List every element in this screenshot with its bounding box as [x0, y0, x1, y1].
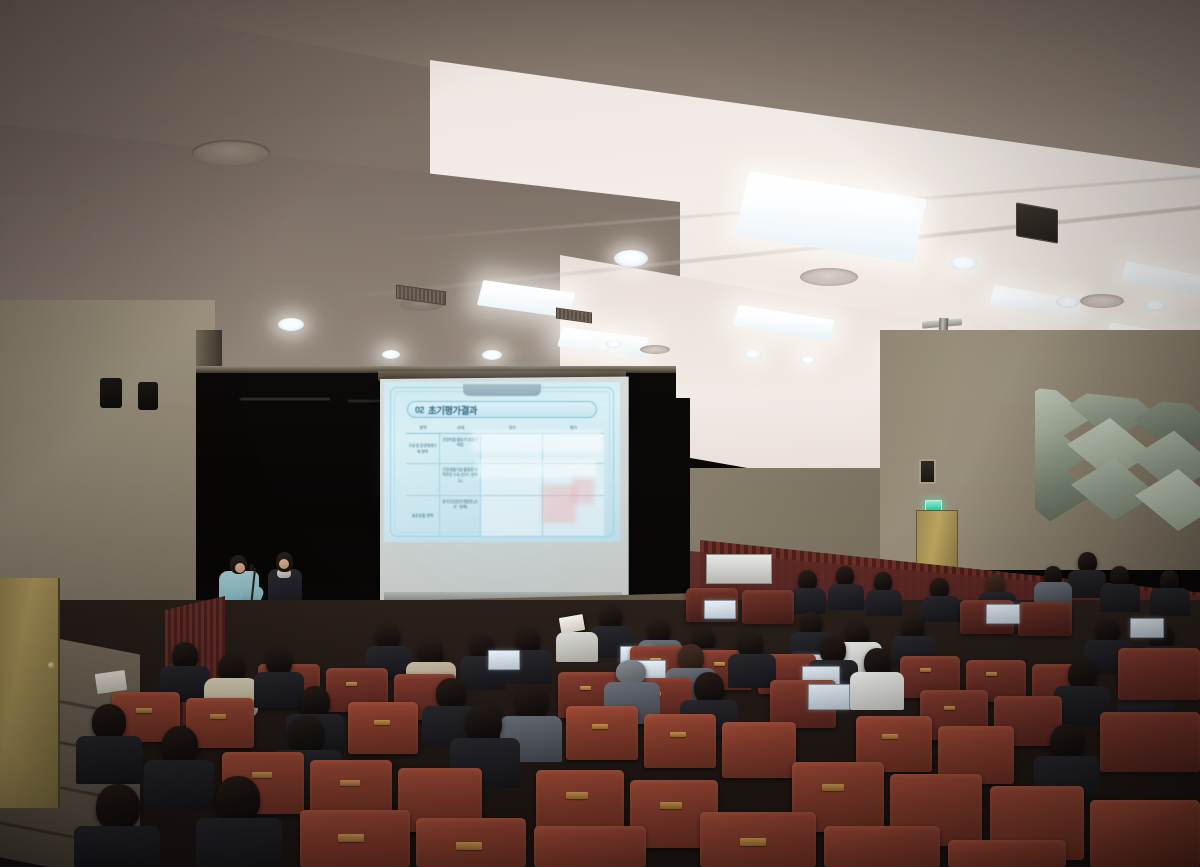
seat-number-plate: [592, 724, 608, 729]
audience-body: [790, 588, 826, 614]
ceiling-speaker: [1016, 202, 1058, 243]
slide-cell-area: 구성 및 운영체계구축 영역: [406, 434, 440, 463]
stage-backdrop-right: [630, 398, 690, 603]
seat-number-plate: [456, 842, 482, 850]
seat-number-plate: [566, 792, 588, 799]
audience-body: [76, 736, 142, 784]
slide-tab-decoration: [463, 384, 541, 396]
slide-blurred-content: [476, 460, 596, 478]
audience-body: [728, 654, 776, 688]
ceiling-air-vent: [1080, 294, 1124, 308]
audience-head: [874, 572, 892, 592]
slide-title: 초기평가결과: [428, 403, 477, 417]
ceiling-downlight: [482, 350, 502, 360]
wall-speaker: [138, 382, 158, 410]
seat-number-plate: [660, 802, 682, 809]
side-table: [706, 554, 772, 584]
presenter-face: [235, 563, 245, 573]
ceiling-downlight: [1056, 296, 1080, 308]
slide-cell-task: 한국건강증진개발원 (조사 · 설계): [440, 496, 482, 536]
seat-number-plate: [252, 772, 272, 778]
seat-number-plate: [822, 784, 844, 791]
ceiling-downlight: [744, 350, 762, 359]
audience-head: [516, 686, 548, 720]
audience-body: [196, 818, 282, 867]
slide-number: 02: [415, 405, 424, 415]
slide-cell-area: [406, 464, 440, 495]
seat[interactable]: [534, 826, 646, 867]
seat-number-plate: [338, 834, 364, 842]
seat-number-plate: [740, 838, 766, 846]
seat[interactable]: [722, 722, 796, 778]
ceiling-downlight: [278, 318, 304, 331]
seat-number-plate: [714, 662, 725, 666]
audience-body: [850, 672, 904, 710]
ceiling-downlight: [950, 256, 978, 270]
ceiling-downlight-off: [192, 140, 270, 166]
slide-cell-result: [481, 496, 542, 536]
audience-body: [1100, 584, 1140, 612]
handout-paper[interactable]: [95, 670, 127, 694]
audience-head: [466, 704, 502, 742]
audience-head: [92, 704, 126, 740]
seat-number-plate: [346, 682, 357, 686]
audience-body: [144, 760, 214, 810]
seat[interactable]: [1118, 648, 1200, 700]
auditorium-photo: 02 초기평가결과 영역 과제 결과 평가 구성 및 운영체계구축 영역 건강마…: [0, 0, 1200, 867]
seat-number-plate: [882, 734, 898, 739]
seat-number-plate: [210, 714, 226, 719]
audience-head: [162, 726, 198, 764]
seat[interactable]: [1100, 712, 1200, 772]
seat[interactable]: [824, 826, 940, 867]
ceiling-downlight: [614, 250, 648, 267]
seat-number-plate: [920, 668, 931, 672]
ceiling-downlight: [606, 340, 622, 348]
laptop[interactable]: [704, 600, 736, 619]
audience-body: [74, 826, 160, 867]
seat-number-plate: [580, 686, 591, 690]
laptop[interactable]: [808, 684, 850, 710]
audience-head: [1050, 724, 1084, 760]
audience-body: [556, 632, 598, 662]
laptop[interactable]: [1130, 618, 1164, 638]
ceiling-downlight: [382, 350, 400, 359]
door-handle-icon[interactable]: [48, 662, 55, 669]
slide-cell-task: 건강생활기술 활용한 지역주민 수요 (인식 · 만족도): [440, 464, 482, 495]
slide-table-header-cell: 영역: [406, 423, 440, 433]
slide-highlight-block: [572, 478, 594, 504]
ceiling-downlight: [1144, 300, 1166, 311]
audience-head: [288, 716, 324, 754]
laptop[interactable]: [986, 604, 1020, 624]
microphone-icon: [249, 564, 254, 571]
laptop[interactable]: [488, 650, 520, 670]
wall-speaker: [100, 378, 122, 408]
seat[interactable]: [644, 714, 716, 768]
audience-body: [866, 590, 902, 616]
stage-left-door[interactable]: [0, 578, 60, 808]
slide-cell-area: 표준효율 영역: [406, 496, 440, 536]
seat[interactable]: [1090, 800, 1200, 867]
audience-head: [216, 776, 260, 822]
seat-number-plate: [374, 720, 390, 725]
audience-head: [96, 784, 140, 830]
presenter-face: [279, 559, 289, 569]
slide-title-bar: 02 초기평가결과: [407, 401, 597, 418]
ceiling-downlight: [800, 356, 816, 364]
seat-number-plate: [136, 708, 152, 713]
slide-highlight-block: [542, 485, 576, 523]
wall-vent: [919, 459, 936, 484]
slide-blurred-content: [472, 430, 602, 452]
acoustic-panel-group: [1035, 388, 1200, 556]
seat[interactable]: [742, 590, 794, 624]
stage-highlight: [240, 398, 330, 400]
seat[interactable]: [348, 702, 418, 754]
audience-body: [1150, 588, 1190, 616]
ceiling-air-vent: [640, 345, 670, 354]
seat-number-plate: [670, 732, 686, 737]
seat-number-plate: [986, 672, 997, 676]
audience-head-with-hat: [616, 660, 646, 684]
seat-number-plate: [944, 706, 955, 710]
audience-body: [828, 584, 864, 610]
slide-content: 02 초기평가결과 영역 과제 결과 평가 구성 및 운영체계구축 영역 건강마…: [384, 382, 620, 542]
ceiling-air-vent: [800, 268, 858, 286]
audience-head: [836, 566, 854, 586]
seat[interactable]: [566, 706, 638, 760]
seat[interactable]: [1018, 602, 1072, 636]
seat[interactable]: [948, 840, 1066, 867]
audience-body: [922, 596, 960, 622]
seat-number-plate: [340, 780, 360, 786]
audience-body: [254, 672, 304, 708]
